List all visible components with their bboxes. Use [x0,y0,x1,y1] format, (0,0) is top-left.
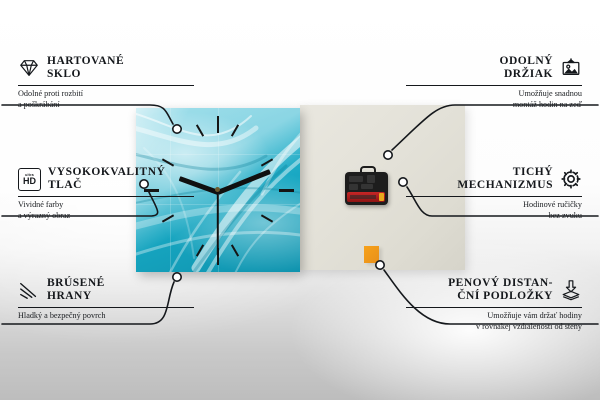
feature-title-line1: VYSOKOKVALITNÝ [48,166,165,179]
feature-silent-mechanism: TICHÝ MECHANIZMUS Hodinové ručičky bez z… [406,166,582,221]
quartz-mechanism [345,172,388,205]
feature-title-line2: DRŽIAK [500,68,553,81]
feature-desc-line1: Odolné proti rozbití [18,89,194,100]
clock-center-hub [215,187,220,192]
feature-desc-line1: Hodinové ručičky [406,200,582,211]
feature-tempered-glass: HARTOVANÉ SKLO Odolné proti rozbití a po… [18,55,194,110]
picture-frame-icon [560,57,582,79]
feature-desc-line2: a výrazný obraz [18,211,194,222]
foam-spacer-pad [364,246,379,263]
diamond-icon [18,57,40,79]
feature-polished-edges: BRÚSENÉ HRANY Hladký a bezpečný povrch [18,277,194,322]
feature-durable-hanger: ODOLNÝ DRŽIAK Umožňuje snadnou montáž ho… [406,55,582,110]
gear-icon [560,168,582,190]
feature-divider [406,196,582,197]
feature-title-line2: MECHANIZMUS [457,179,553,192]
mechanism-hanger-hook [360,166,376,175]
feature-divider [18,85,194,86]
feature-divider [18,196,194,197]
feature-divider [406,307,582,308]
feature-title-line1: ODOLNÝ [500,55,553,68]
feature-desc-line1: Hladký a bezpečný povrch [18,311,194,322]
mechanism-battery [347,192,385,202]
feature-title-line2: HRANY [47,290,105,303]
feature-high-quality-print: ultra HD VYSOKOKVALITNÝ TLAČ Vividné far… [18,166,194,221]
diagonal-lines-icon [18,279,40,301]
feature-desc-line1: Vividné farby [18,200,194,211]
infographic-canvas: HARTOVANÉ SKLO Odolné proti rozbití a po… [0,0,600,400]
feature-title-line1: HARTOVANÉ [47,55,124,68]
feature-desc-line2: v rovnakej vzdialenosti od steny [406,322,582,333]
feature-foam-spacers: PENOVÝ DISTAN- ČNÍ PODLOŽKY Umožňuje vám… [406,277,582,332]
feature-title-line1: BRÚSENÉ [47,277,105,290]
feature-desc-line1: Umožňuje snadnou [406,89,582,100]
feature-desc-line2: a poškrábání [18,100,194,111]
feature-title-line2: TLAČ [48,179,165,192]
feature-divider [18,307,194,308]
press-layers-icon [560,279,582,301]
ultra-hd-icon: ultra HD [18,168,41,191]
clock-second-hand [217,192,219,256]
feature-desc-line1: Umožňuje vám držať hodiny [406,311,582,322]
feature-desc-line2: montáž hodin na zeď [406,100,582,111]
feature-title-line1: TICHÝ [457,166,553,179]
feature-title-line1: PENOVÝ DISTAN- [448,277,553,290]
feature-title-line2: SKLO [47,68,124,81]
ultra-hd-icon-bottom: HD [23,177,36,186]
feature-desc-line2: bez zvuku [406,211,582,222]
feature-divider [406,85,582,86]
feature-title-line2: ČNÍ PODLOŽKY [448,290,553,303]
